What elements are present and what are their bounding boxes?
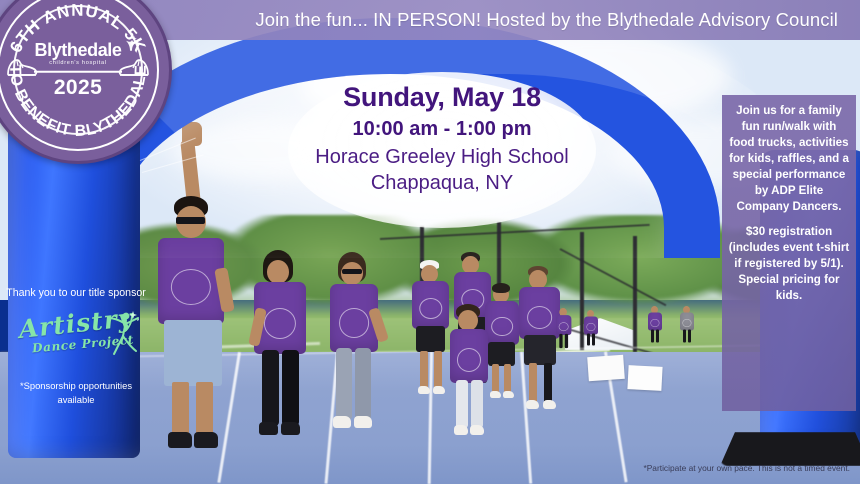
leggings	[355, 348, 371, 420]
shoe	[194, 432, 218, 448]
arch-base-weight	[720, 432, 860, 466]
leg	[504, 364, 511, 394]
shoe	[470, 425, 484, 435]
event-time: 10:00 am - 1:00 pm	[288, 117, 596, 141]
leggings	[262, 350, 279, 426]
leggings	[282, 350, 299, 426]
shorts	[524, 335, 556, 365]
shoe	[503, 391, 514, 398]
dancer-icon	[100, 309, 140, 366]
purple-tshirt	[450, 329, 488, 383]
event-details-block: Sunday, May 18 10:00 am - 1:00 pm Horace…	[288, 82, 596, 196]
title-sponsor-block: Thank you to our title sponsor Artistry …	[6, 286, 146, 406]
sponsor-logo: Artistry Dance Project	[14, 311, 138, 373]
leg	[529, 363, 537, 403]
sponsorship-note: *Sponsorship opportunities available	[6, 379, 146, 405]
leg	[420, 351, 428, 389]
leg	[434, 351, 442, 389]
registration-paragraph: $30 registration (includes event t-shirt…	[728, 224, 850, 304]
shoe	[543, 400, 556, 409]
leg	[683, 330, 686, 343]
event-sign	[627, 365, 662, 391]
event-badge-seal: 6TH ANNUAL 5K TO BENEFIT BLYTHEDALE	[0, 0, 172, 164]
purple-tshirt	[648, 313, 662, 331]
shoe	[333, 416, 351, 428]
badge-divider	[34, 71, 122, 73]
header-title: Join the fun... IN PERSON! Hosted by the…	[255, 9, 838, 31]
leg	[559, 334, 562, 348]
shoe	[526, 400, 539, 409]
sparkle-icon	[123, 34, 139, 57]
shoe	[490, 391, 501, 398]
shoe	[418, 386, 430, 394]
event-city: Chappaqua, NY	[288, 170, 596, 196]
badge-year: 2025	[26, 75, 130, 99]
shoe	[259, 422, 278, 435]
leg	[651, 330, 654, 343]
leg	[492, 364, 499, 394]
leg	[656, 330, 659, 343]
leg	[688, 330, 691, 343]
leg	[592, 334, 595, 346]
shoe	[281, 422, 300, 435]
leg	[196, 382, 213, 438]
leggings	[471, 380, 483, 428]
leg	[544, 363, 552, 403]
shorts	[488, 342, 515, 366]
event-date: Sunday, May 18	[288, 82, 596, 113]
description-paragraph: Join us for a family fun run/walk with f…	[728, 103, 850, 215]
sponsor-thanks-text: Thank you to our title sponsor	[6, 286, 146, 301]
leggings	[456, 380, 468, 428]
purple-tshirt	[584, 317, 598, 335]
badge-logo-subtitle: children's hospital	[26, 60, 130, 66]
leg	[587, 334, 590, 346]
badge-logo-wordmark: Blythedale	[26, 41, 130, 59]
shoe	[454, 425, 468, 435]
event-sign	[587, 355, 625, 381]
shoe	[354, 416, 372, 428]
leg	[565, 334, 568, 348]
shoe	[433, 386, 445, 394]
race-disclaimer: *Participate at your own pace. This is n…	[643, 463, 850, 473]
leg	[172, 382, 189, 438]
purple-tshirt	[556, 315, 571, 335]
event-description-panel: Join us for a family fun run/walk with f…	[722, 95, 856, 411]
leggings	[336, 348, 352, 420]
purple-tshirt	[680, 313, 694, 331]
badge-center-logo: Blythedale children's hospital 2025	[26, 41, 130, 100]
denim-shorts	[164, 320, 222, 386]
event-poster: Join the fun... IN PERSON! Hosted by the…	[0, 0, 860, 484]
event-venue: Horace Greeley High School	[288, 144, 596, 170]
shorts	[416, 326, 445, 352]
shoe	[168, 432, 192, 448]
